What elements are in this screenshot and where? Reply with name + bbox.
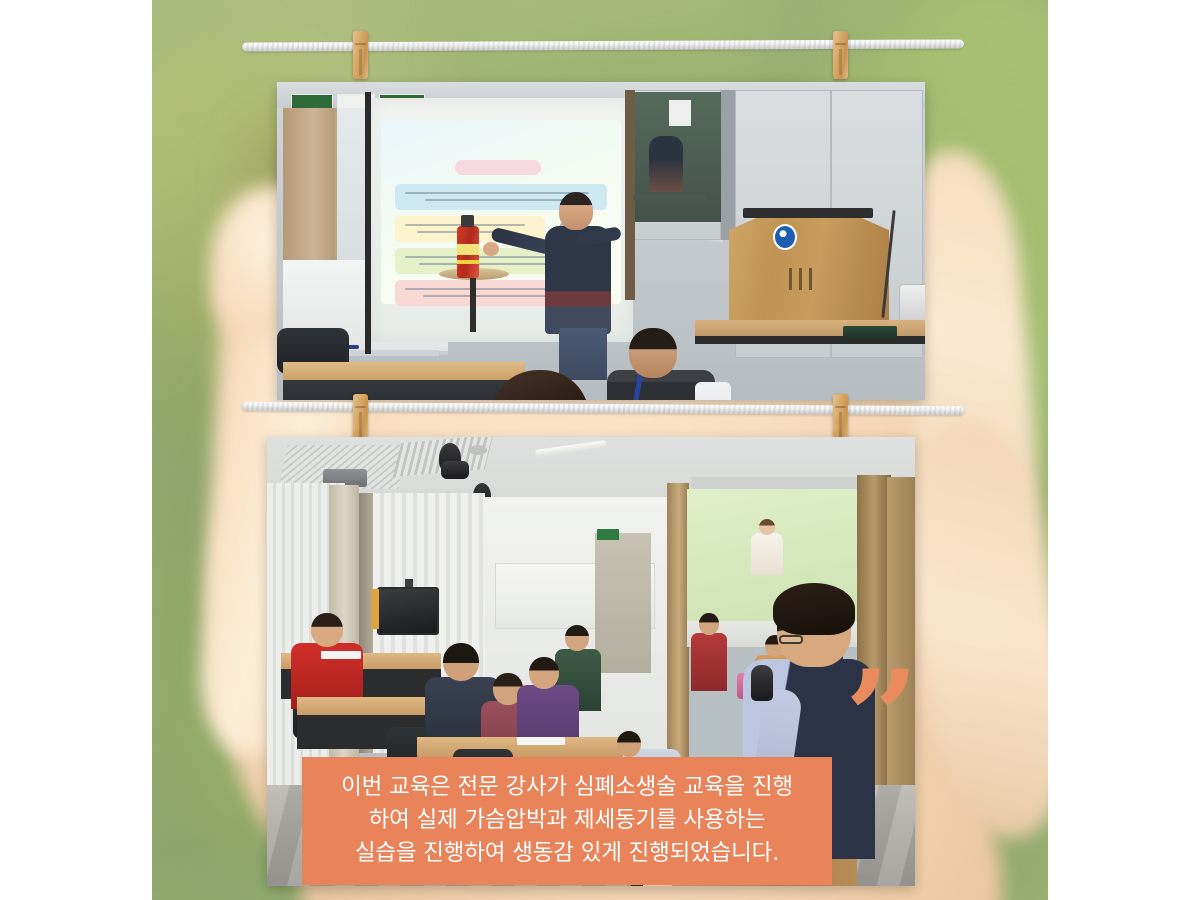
extinguisher-label <box>457 244 479 255</box>
slide-text-line <box>425 199 575 201</box>
quote-glyph: ” <box>845 672 917 764</box>
student-table <box>283 362 525 380</box>
green-exit-sign <box>291 94 333 109</box>
standing-person-head <box>699 613 719 635</box>
podium-slot <box>809 268 812 290</box>
background-person <box>649 136 683 192</box>
green-exit-sign <box>597 529 619 540</box>
student-table-panel <box>283 380 525 400</box>
presenter-hand <box>483 242 499 256</box>
back-room-notice <box>669 100 691 126</box>
instructor-glasses <box>779 635 803 644</box>
ceiling-spotlight <box>441 461 469 479</box>
presenter-legs <box>559 328 607 380</box>
slide-page: ” 이번 교육은 전문 강사가 심폐소생술 교육을 진행 하여 실제 가슴압박과… <box>0 0 1200 900</box>
seated-attendee-head <box>565 625 589 651</box>
extinguisher-band <box>457 260 479 264</box>
podium-slot <box>789 268 792 290</box>
presenter-head <box>559 192 593 230</box>
wall-marker <box>371 589 379 629</box>
caption-box: 이번 교육은 전문 강사가 심폐소생술 교육을 진행 하여 실제 가슴압박과 제… <box>302 757 832 885</box>
wood-column <box>667 483 689 783</box>
slide-text-line <box>405 192 589 194</box>
slide-figure <box>751 533 783 575</box>
closing-quote-icon: ” <box>845 694 917 754</box>
podium-slot <box>799 268 802 290</box>
caption-line-2: 하여 실제 가슴압박과 제세동기를 사용하는 <box>369 804 766 837</box>
wooden-podium <box>729 210 889 322</box>
clothespin-icon <box>833 31 848 79</box>
wall-panel-divider <box>721 90 735 240</box>
podium-top <box>743 208 873 218</box>
standing-person-body <box>691 633 727 691</box>
seated-attendee-head <box>529 657 559 689</box>
instructor-hair <box>773 583 855 635</box>
handout-paper <box>517 737 565 745</box>
seated-attendee-head <box>311 613 343 647</box>
notebook <box>843 326 897 338</box>
photo-fire-extinguisher-lecture[interactable] <box>277 82 925 400</box>
slide-figure-head <box>759 519 775 535</box>
stool-leg <box>470 278 476 332</box>
caption-line-1: 이번 교육은 전문 강사가 심폐소생술 교육을 진행 <box>341 771 793 804</box>
clothespin-icon <box>353 31 368 79</box>
clothespin-icon <box>353 394 368 442</box>
attendee-sleeve <box>695 382 731 400</box>
podium-emblem <box>773 224 797 250</box>
doorway <box>595 533 651 673</box>
microphone-icon <box>751 665 773 701</box>
caption-line-3: 실습을 진행하여 생동감 있게 진행되었습니다. <box>355 837 779 870</box>
attendee-head <box>629 328 677 378</box>
seated-attendee-head <box>443 643 479 681</box>
trainee-head <box>617 731 641 757</box>
extinguisher-handle <box>461 215 474 227</box>
wall-monitor <box>377 587 439 635</box>
back-room-table <box>633 194 707 200</box>
clothespin-icon <box>833 394 848 442</box>
handout-paper <box>321 651 361 659</box>
slide-title-pill <box>455 160 541 175</box>
smoke-detector <box>469 445 487 455</box>
